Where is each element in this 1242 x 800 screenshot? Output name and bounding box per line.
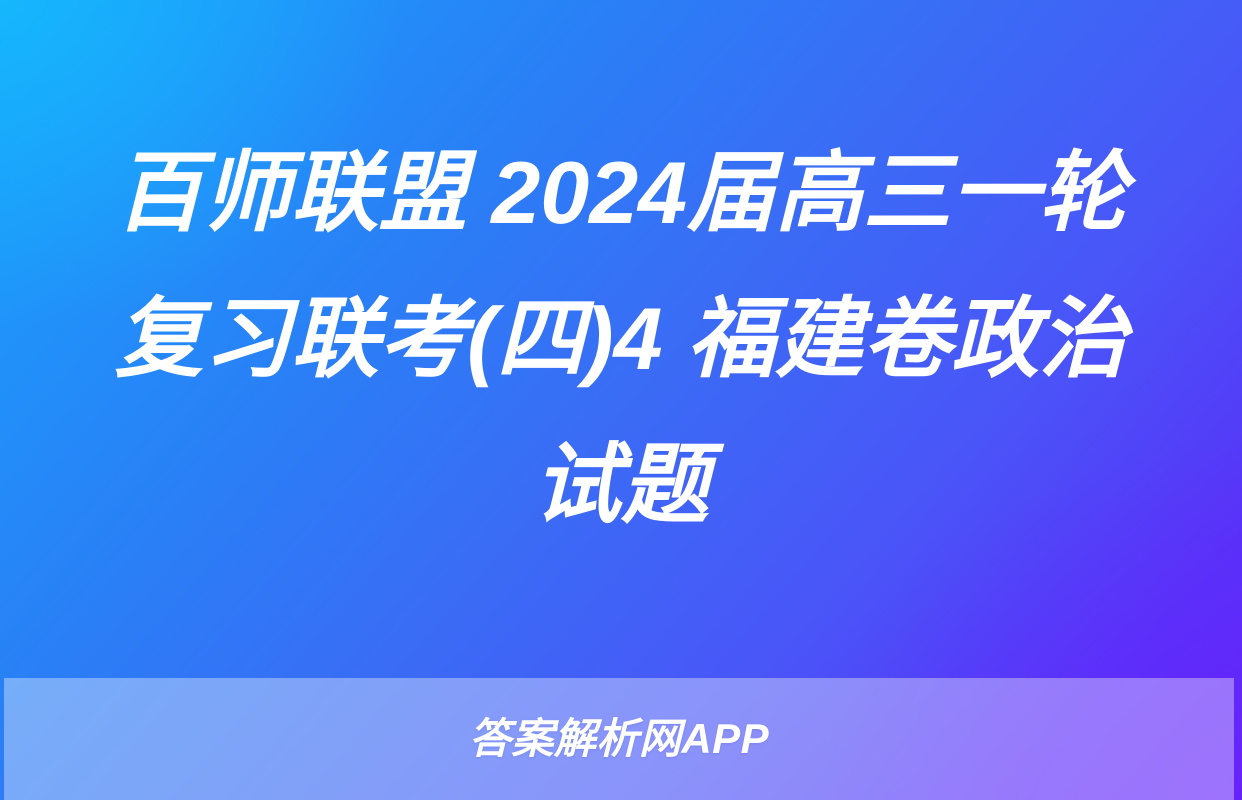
page-title: 百师联盟 2024届高三一轮复习联考(四)4 福建卷政治试题 bbox=[72, 120, 1170, 558]
watermark-label: 答案解析网APP bbox=[469, 718, 769, 760]
exam-title-card: 百师联盟 2024届高三一轮复习联考(四)4 福建卷政治试题 答案解析网APP bbox=[0, 0, 1242, 800]
title-block: 百师联盟 2024届高三一轮复习联考(四)4 福建卷政治试题 bbox=[0, 0, 1242, 678]
watermark-band: 答案解析网APP bbox=[4, 678, 1234, 800]
